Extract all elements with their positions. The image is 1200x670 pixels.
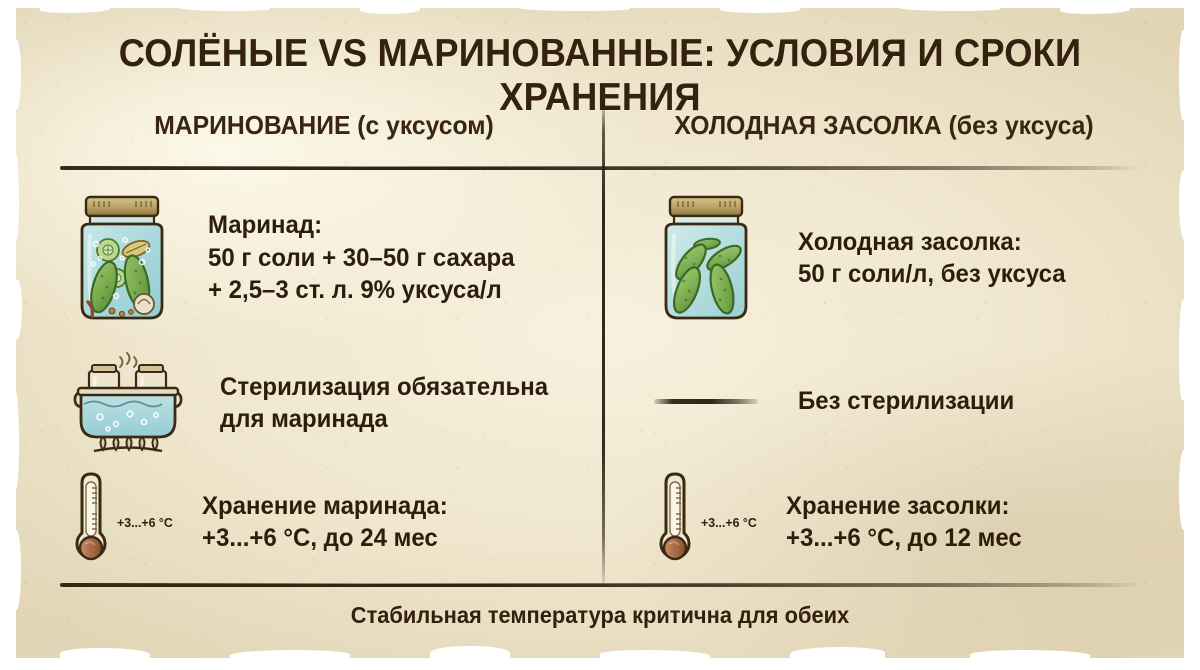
row-marinade-recipe: Маринад: 50 г соли + 30–50 г сахара + 2,…	[70, 192, 610, 324]
pickle-jar-brine-icon	[654, 192, 758, 324]
pickle-jar-marinade-icon	[70, 192, 174, 324]
thermometer-icon: +3...+6 °C	[654, 470, 760, 574]
no-sterilization-dash-icon	[654, 399, 758, 404]
page-title: СОЛЁНЫЕ VS МАРИНОВАННЫЕ: УСЛОВИЯ И СРОКИ…	[55, 32, 1145, 120]
no-sterilization-text: Без стерилизации	[798, 385, 1014, 418]
cold-salting-storage-text: Хранение засолки: +3...+6 °C, до 12 мес	[786, 490, 1022, 555]
sterilization-pot-icon	[70, 351, 186, 455]
column-heading-cold-salting: ХОЛОДНАЯ ЗАСОЛКА (без уксуса)	[628, 110, 1141, 141]
divider-bottom	[60, 583, 1142, 587]
row-cold-salting-recipe: Холодная засолка: 50 г соли/л, без уксус…	[654, 192, 1174, 324]
thermometer-label: +3...+6 °C	[117, 515, 173, 530]
footer-note: Стабильная температура критична для обеи…	[43, 602, 1156, 629]
thermometer-icon: +3...+6 °C	[70, 470, 176, 574]
row-cold-salting-storage: +3...+6 °C Хранение засолки: +3...+6 °C,…	[654, 466, 1174, 578]
marinade-storage-text: Хранение маринада: +3...+6 °C, до 24 мес	[202, 490, 448, 555]
marinade-recipe-text: Маринад: 50 г соли + 30–50 г сахара + 2,…	[208, 209, 515, 307]
row-sterilization: Стерилизация обязательна для маринада	[70, 351, 610, 455]
cold-salting-recipe-text: Холодная засолка: 50 г соли/л, без уксус…	[798, 226, 1066, 291]
row-marinade-storage: +3...+6 °C Хранение маринада: +3...+6 °C…	[70, 466, 610, 578]
divider-top	[60, 166, 1142, 170]
sterilization-text: Стерилизация обязательна для маринада	[220, 371, 548, 436]
thermometer-label: +3...+6 °C	[701, 515, 757, 530]
column-heading-marinating: МАРИНОВАНИЕ (с уксусом)	[68, 110, 581, 141]
row-no-sterilization: Без стерилизации	[654, 366, 1174, 436]
